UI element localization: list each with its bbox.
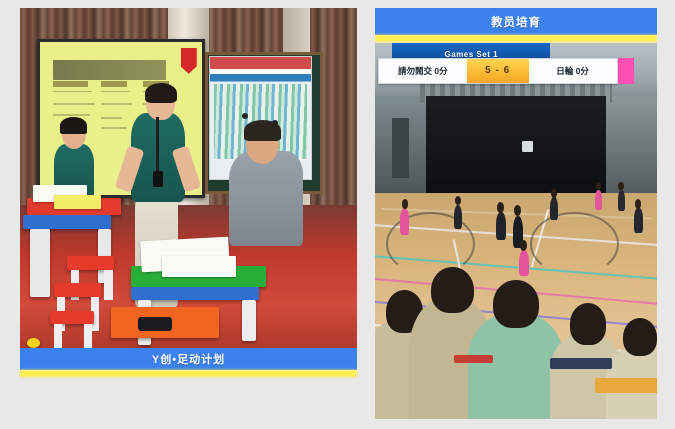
player-head <box>514 205 521 216</box>
spectator-head <box>623 318 657 356</box>
slide-col-heading <box>101 81 127 87</box>
spectator-row <box>375 254 657 419</box>
gym-wall-sign <box>522 141 533 152</box>
slide-body-line <box>101 127 127 129</box>
slide-body-line <box>53 114 90 116</box>
right-photo-card: 教员培育 <box>375 8 657 419</box>
player-dark <box>550 197 558 220</box>
left-photo-card: Y创•足动计划 <box>20 8 357 370</box>
desk-blue <box>23 215 111 229</box>
gym-wall-right <box>603 96 657 194</box>
participant-left-hair <box>60 117 87 134</box>
stool-red <box>50 311 94 325</box>
participant-right-body <box>229 151 303 246</box>
slide-body-line <box>53 103 95 105</box>
ball <box>27 338 40 348</box>
slide-body-line <box>101 117 122 119</box>
participant-right-hair <box>244 120 281 140</box>
desk-leg <box>30 229 50 297</box>
slide-title-text <box>53 60 166 80</box>
player-pink <box>400 208 409 234</box>
scoreboard-team-left: 請勿鬧交 0分 <box>379 59 467 83</box>
poster-dot <box>242 113 248 119</box>
worksheet <box>162 256 236 276</box>
scoreboard-team-right: 日輪 0分 <box>529 59 617 83</box>
stool-red <box>67 256 114 270</box>
gym-stage-opening <box>426 96 606 201</box>
stool-red <box>54 283 101 297</box>
slide-rule <box>53 91 92 92</box>
spectator-head <box>570 303 607 344</box>
equipment-case <box>550 358 612 370</box>
slide-col-heading <box>53 81 89 87</box>
left-card-caption: Y创•足动计划 <box>20 348 357 370</box>
presenter-lanyard <box>156 117 159 175</box>
y-logo-icon <box>181 48 197 74</box>
player-head <box>618 182 624 190</box>
player-dark <box>496 212 506 240</box>
spectator-head <box>493 280 538 328</box>
stool-leg <box>54 324 62 348</box>
scoreboard-accent <box>618 58 635 84</box>
player-pink <box>595 190 602 210</box>
slide-rule <box>101 91 130 92</box>
player-dark <box>618 190 625 211</box>
gym-door <box>392 118 409 178</box>
stool-leg <box>104 270 112 301</box>
smartphone <box>138 317 172 331</box>
spectator-head <box>431 267 473 313</box>
desk-leg <box>242 300 255 341</box>
player-head <box>551 189 557 198</box>
slide-body-line <box>101 103 132 105</box>
player-dark <box>634 208 642 232</box>
desk-green-edge <box>131 287 259 301</box>
scoreboard-row: 請勿鬧交 0分 5 - 6 日輪 0分 <box>378 58 618 84</box>
paper-stack-yellow <box>54 195 101 209</box>
spectator-table-red <box>454 355 493 363</box>
classroom-training-photo <box>20 8 357 348</box>
player-dark <box>454 205 462 229</box>
spectator-table <box>595 378 657 393</box>
presenter-hair <box>145 83 177 103</box>
right-card-caption: 教员培育 <box>375 8 657 35</box>
stool-leg <box>84 324 92 348</box>
scoreboard-overlay: Games Set 1 請勿鬧交 0分 5 - 6 日輪 0分 <box>378 43 618 84</box>
scoreboard-score: 5 - 6 <box>467 59 529 83</box>
gymnasium-match-photo: Games Set 1 請勿鬧交 0分 5 - 6 日輪 0分 <box>375 43 657 419</box>
player-head <box>402 199 409 209</box>
presenter-badge <box>153 171 163 187</box>
